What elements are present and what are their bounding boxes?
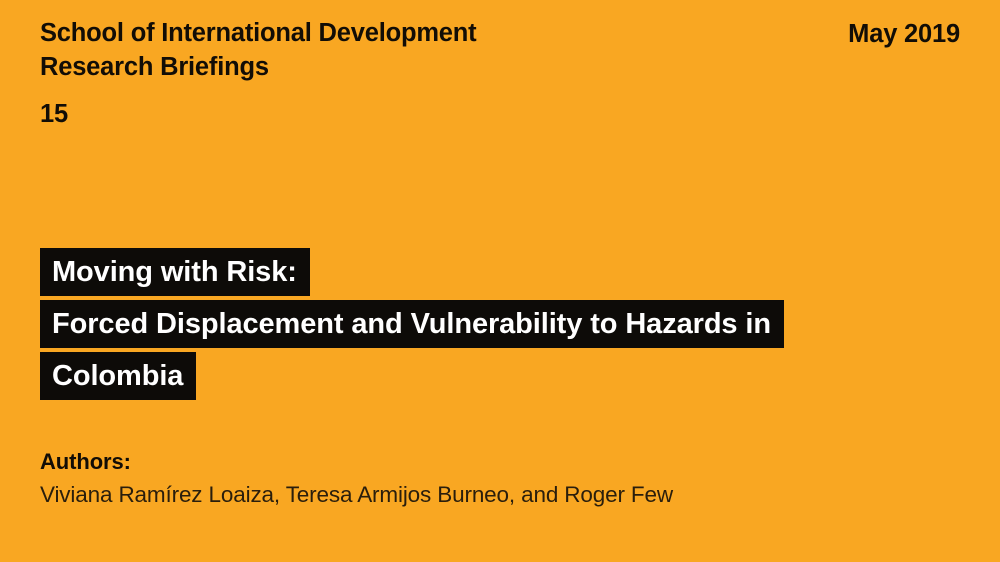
series-title-line-1: School of International Development: [40, 16, 476, 50]
cover-page: School of International Development Rese…: [0, 0, 1000, 562]
publication-date: May 2019: [848, 16, 960, 51]
series-block: School of International Development Rese…: [40, 16, 476, 131]
header: School of International Development Rese…: [40, 16, 960, 131]
authors-names: Viviana Ramírez Loaiza, Teresa Armijos B…: [40, 480, 960, 510]
title-line-3: Colombia: [40, 352, 196, 400]
authors-section: Authors: Viviana Ramírez Loaiza, Teresa …: [40, 447, 960, 510]
page-title: Moving with Risk: Forced Displacement an…: [40, 248, 960, 400]
title-line-1: Moving with Risk:: [40, 248, 310, 296]
title-line-2: Forced Displacement and Vulnerability to…: [40, 300, 784, 348]
series-title-line-2: Research Briefings: [40, 50, 476, 84]
issue-number: 15: [40, 97, 476, 131]
authors-label: Authors:: [40, 447, 960, 477]
